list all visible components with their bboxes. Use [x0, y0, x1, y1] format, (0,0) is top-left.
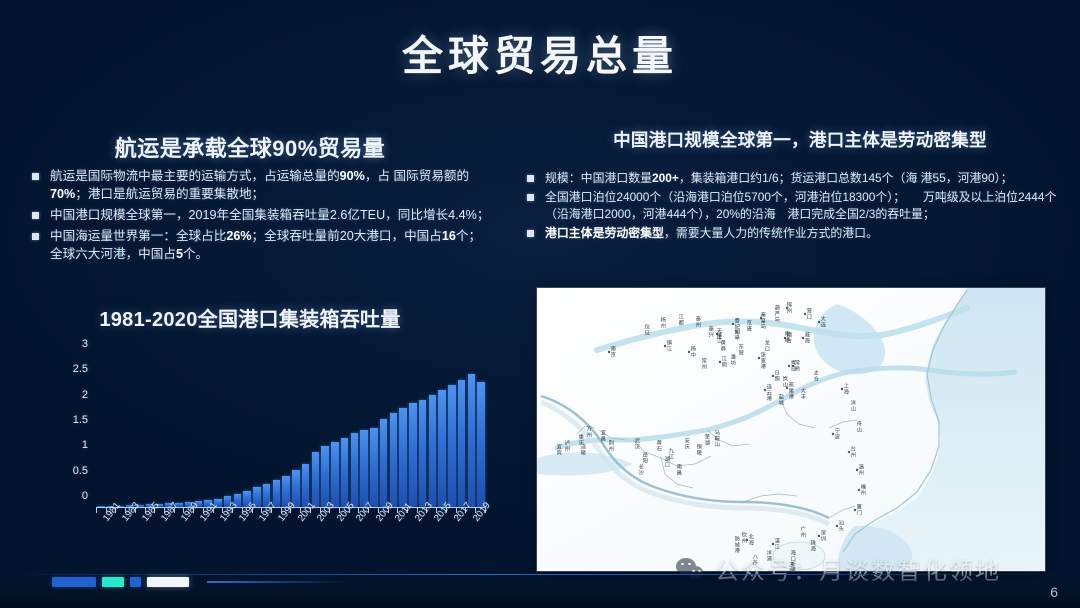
map-city-label: 福州	[859, 484, 864, 495]
map-city-label: 烟台	[785, 332, 790, 343]
y-axis-tick-label: 3	[82, 338, 88, 350]
chart-bar	[477, 382, 485, 506]
chart-bar	[380, 419, 388, 506]
right-bullet-item: 规模：中国港口数量200+，集装箱港口约1/6；货运港口总数145个（海 港55…	[527, 170, 1075, 187]
bullet-square-icon	[32, 233, 39, 240]
footer-accent-segment	[147, 577, 189, 587]
map-city-label: 上海	[842, 383, 847, 394]
y-axis-tick-label: 0	[82, 490, 88, 502]
map-city-label: 江都	[677, 314, 682, 325]
chart-bar	[399, 408, 407, 507]
chart-bar	[409, 403, 417, 507]
map-city-label: 舟山	[855, 421, 860, 432]
chart-bar	[438, 390, 446, 507]
map-city-label: 江阴	[720, 356, 725, 367]
left-bullet-item: 中国海运量世界第一：全球占比26%；全球吞吐量前20大港口，中国占16个；全球六…	[32, 228, 492, 264]
map-city-label: 武汉	[633, 438, 638, 449]
map-city-label: 太仓	[812, 370, 817, 381]
map-city-label: 扬州	[659, 317, 664, 328]
map-city-label: 洋山	[849, 400, 854, 411]
bullet-square-icon	[527, 194, 534, 201]
map-city-label: 京唐	[745, 320, 750, 331]
map-city-label: 温州	[857, 464, 862, 475]
map-city-label: 南京	[609, 346, 614, 357]
left-bullet-item: 航运是国际物流中最主要的运输方式，占运输总量的90%，占 国际贸易额的70%；港…	[32, 168, 492, 204]
left-bullet-item: 中国港口规模全球第一，2019年全国集装箱吞吐量2.6亿TEU，同比增长4.4%…	[32, 207, 492, 225]
map-city-label: 东营	[737, 344, 742, 355]
map-city-label: 钦州	[740, 532, 745, 543]
map-city-label: 长沙	[637, 464, 642, 475]
right-bullet-text: 港口主体是劳动密集型，需要大量人力的传统作业方式的港口。	[545, 225, 878, 242]
right-bullet-text: 全国港口泊位24000个（沿海港口泊位5700个，河港泊位18300个）； 万吨…	[545, 189, 1075, 223]
page-title: 全球贸易总量	[0, 22, 1080, 82]
right-bullet-item: 全国港口泊位24000个（沿海港口泊位5700个，河港泊位18300个）； 万吨…	[527, 189, 1075, 223]
port-throughput-bar-chart: 1981198319851987198919911993199519971999…	[58, 352, 490, 552]
map-city-label: 宁波	[833, 428, 838, 439]
chart-bar	[312, 452, 320, 507]
chart-bar	[351, 433, 359, 506]
map-city-label: 秦皇岛	[759, 312, 764, 329]
footer-decoration	[52, 577, 347, 587]
chart-bar	[458, 380, 466, 507]
map-city-label: 马鞍山	[713, 430, 718, 447]
page-number: 6	[1050, 584, 1058, 600]
right-bullet-text: 规模：中国港口数量200+，集装箱港口约1/6；货运港口总数145个（海 港55…	[545, 170, 1013, 187]
map-city-label: 张家港	[759, 352, 764, 369]
map-city-label: 汕头	[837, 520, 842, 531]
chart-bars	[96, 355, 486, 507]
right-column-heading: 中国港口规模全球第一，港口主体是劳动密集型	[520, 127, 1080, 152]
map-city-label: 大连	[819, 316, 824, 327]
map-city-label: 泸州	[563, 440, 568, 451]
map-graphic	[537, 288, 1045, 571]
map-city-label: 芜湖	[703, 434, 708, 445]
map-city-label: 潍坊	[729, 354, 734, 365]
map-city-label: 三亚	[787, 562, 792, 571]
left-bullet-text: 中国海运量世界第一：全球占比26%；全球吞吐量前20大港口，中国占16个；全球六…	[50, 228, 492, 264]
map-city-label: 岳阳	[641, 452, 646, 463]
map-city-label: 南昌	[675, 464, 680, 475]
map-city-label: 湖口	[663, 456, 668, 467]
chart-bar	[331, 442, 339, 507]
chart-bar	[448, 385, 456, 507]
map-city-label: 常州	[700, 358, 705, 369]
map-city-label: 铜陵	[695, 444, 700, 455]
bullet-square-icon	[32, 212, 39, 219]
map-city-label: 黄骅	[719, 340, 724, 351]
y-axis-tick-label: 2.5	[73, 363, 88, 375]
map-city-label: 深圳	[819, 530, 824, 541]
chart-bar	[97, 506, 105, 507]
map-city-label: 葫芦岛	[773, 305, 778, 322]
bullet-square-icon	[527, 230, 534, 237]
map-city-label: 日照	[773, 370, 778, 381]
map-city-label: 涪陵	[579, 444, 584, 455]
map-city-label: 黄石	[655, 440, 660, 451]
left-bullet-text: 航运是国际物流中最主要的运输方式，占运输总量的90%，占 国际贸易额的70%；港…	[50, 168, 492, 204]
map-city-label: 曹妃甸	[733, 318, 738, 335]
map-city-label: 珠海	[809, 540, 814, 551]
chart-bar	[321, 446, 329, 507]
map-city-label: 宜宾	[555, 444, 560, 455]
x-axis-labels: 1981198319851987198919911993199519971999…	[96, 517, 486, 567]
right-bullet-item: 港口主体是劳动密集型，需要大量人力的传统作业方式的港口。	[527, 225, 1075, 242]
y-axis-tick-label: 0.5	[73, 465, 88, 477]
bullet-square-icon	[32, 173, 39, 180]
chart-bar	[419, 400, 427, 506]
map-city-label: 厦门	[855, 504, 860, 515]
map-city-label: 洋浦	[765, 550, 770, 561]
map-city-label: 安庆	[683, 438, 688, 449]
map-city-label: 万州	[585, 426, 590, 437]
map-city-label: 大丰	[799, 388, 804, 399]
map-city-label: 燕尾港	[787, 382, 792, 399]
map-city-label: 锦州	[785, 302, 790, 313]
chart-bar	[390, 413, 398, 507]
map-city-label: 龙口	[763, 340, 768, 351]
chart-bar	[341, 438, 349, 506]
map-city-label: 湛江	[773, 538, 778, 549]
map-city-label: 扬中	[689, 346, 694, 357]
map-city-label: 营口	[805, 308, 810, 319]
map-city-label: 青岛	[789, 360, 794, 371]
map-city-label: 台州	[849, 446, 854, 457]
footer-accent-segment	[130, 577, 141, 587]
left-bullet-text: 中国港口规模全球第一，2019年全国集装箱吞吐量2.6亿TEU，同比增长4.4%…	[50, 207, 489, 225]
chart-plot-area: 1981198319851987198919911993199519971999…	[96, 356, 486, 508]
map-city-label: 威海	[803, 332, 808, 343]
y-axis-tick-label: 1	[82, 439, 88, 451]
map-city-label: 泰兴	[707, 326, 712, 337]
map-city-label: 连云港	[765, 384, 770, 401]
map-city-label: 岚山	[781, 376, 786, 387]
footer-accent-segment	[52, 577, 96, 587]
chart-bar	[468, 374, 476, 506]
map-city-label: 镇江	[665, 340, 670, 351]
footer-accent-segment	[102, 577, 124, 587]
map-city-label: 荆州	[607, 440, 612, 451]
chart-bar	[292, 470, 300, 506]
right-bullet-list: 规模：中国港口数量200+，集装箱港口约1/6；货运港口总数145个（海 港55…	[527, 170, 1075, 244]
map-city-label: 天津	[715, 328, 720, 339]
slide-root: 全球贸易总量 航运是承载全球90%贸易量 航运是国际物流中最主要的运输方式，占运…	[0, 0, 1080, 608]
map-city-label: 盐城	[777, 394, 782, 405]
map-city-label: 八所	[751, 554, 756, 565]
chart-title: 1981-2020全国港口集装箱吞吐量	[0, 303, 500, 332]
left-bullet-list: 航运是国际物流中最主要的运输方式，占运输总量的90%，占 国际贸易额的70%；港…	[32, 168, 492, 266]
china-port-map: 南京仪征扬州江都镇江泰州泰兴扬中常州靖江江阴如皋张家港南通常熟太仓上海洋山宁波舟…	[537, 288, 1045, 571]
map-city-label: 防城港	[733, 536, 738, 553]
map-city-label: 仪征	[643, 324, 648, 335]
map-city-label: 广州	[799, 526, 804, 537]
map-city-label: 泰州	[694, 316, 699, 327]
bullet-square-icon	[527, 175, 534, 182]
footer-accent-line	[207, 581, 347, 582]
map-city-label: 宜昌	[599, 430, 604, 441]
left-column-heading: 航运是承载全球90%贸易量	[0, 131, 500, 163]
map-city-label: 北海	[747, 534, 752, 545]
y-axis-tick-label: 2	[82, 389, 88, 401]
y-axis-tick-label: 1.5	[73, 414, 88, 426]
chart-bar	[370, 428, 378, 507]
chart-bar	[360, 430, 368, 507]
chart-bar	[429, 395, 437, 506]
